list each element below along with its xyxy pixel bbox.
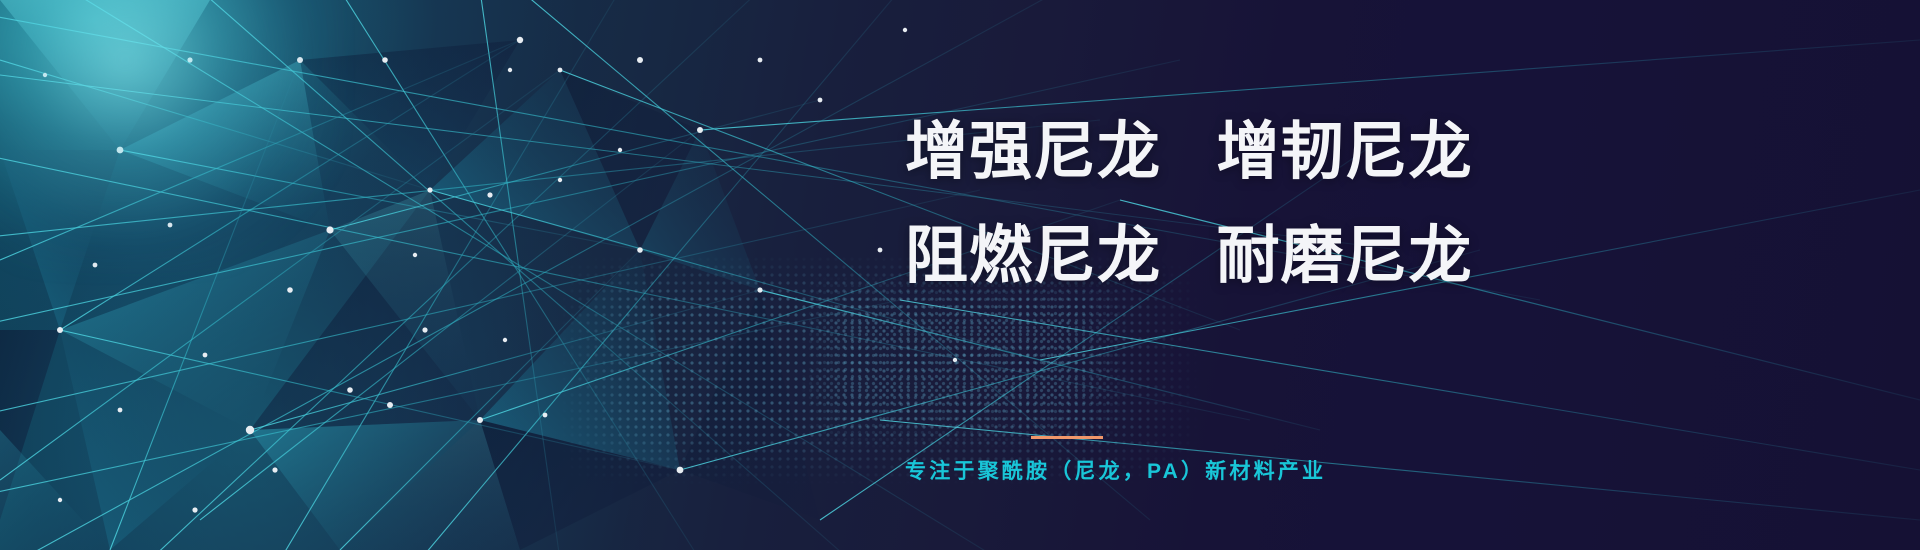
accent-divider: [1031, 436, 1103, 439]
hero-banner: 增强尼龙 增韧尼龙 阻燃尼龙 耐磨尼龙 专注于聚酰胺（尼龙，PA）新材料产业: [0, 0, 1920, 550]
banner-content: 增强尼龙 增韧尼龙 阻燃尼龙 耐磨尼龙 专注于聚酰胺（尼龙，PA）新材料产业: [905, 0, 1905, 550]
headline-line-1: 增强尼龙 增韧尼龙: [905, 100, 1545, 204]
headline-block: 增强尼龙 增韧尼龙 阻燃尼龙 耐磨尼龙: [905, 100, 1545, 308]
polygon-facets: [0, 0, 820, 550]
tagline: 专注于聚酰胺（尼龙，PA）新材料产业: [905, 455, 1545, 485]
headline-line-2: 阻燃尼龙 耐磨尼龙: [905, 204, 1545, 308]
